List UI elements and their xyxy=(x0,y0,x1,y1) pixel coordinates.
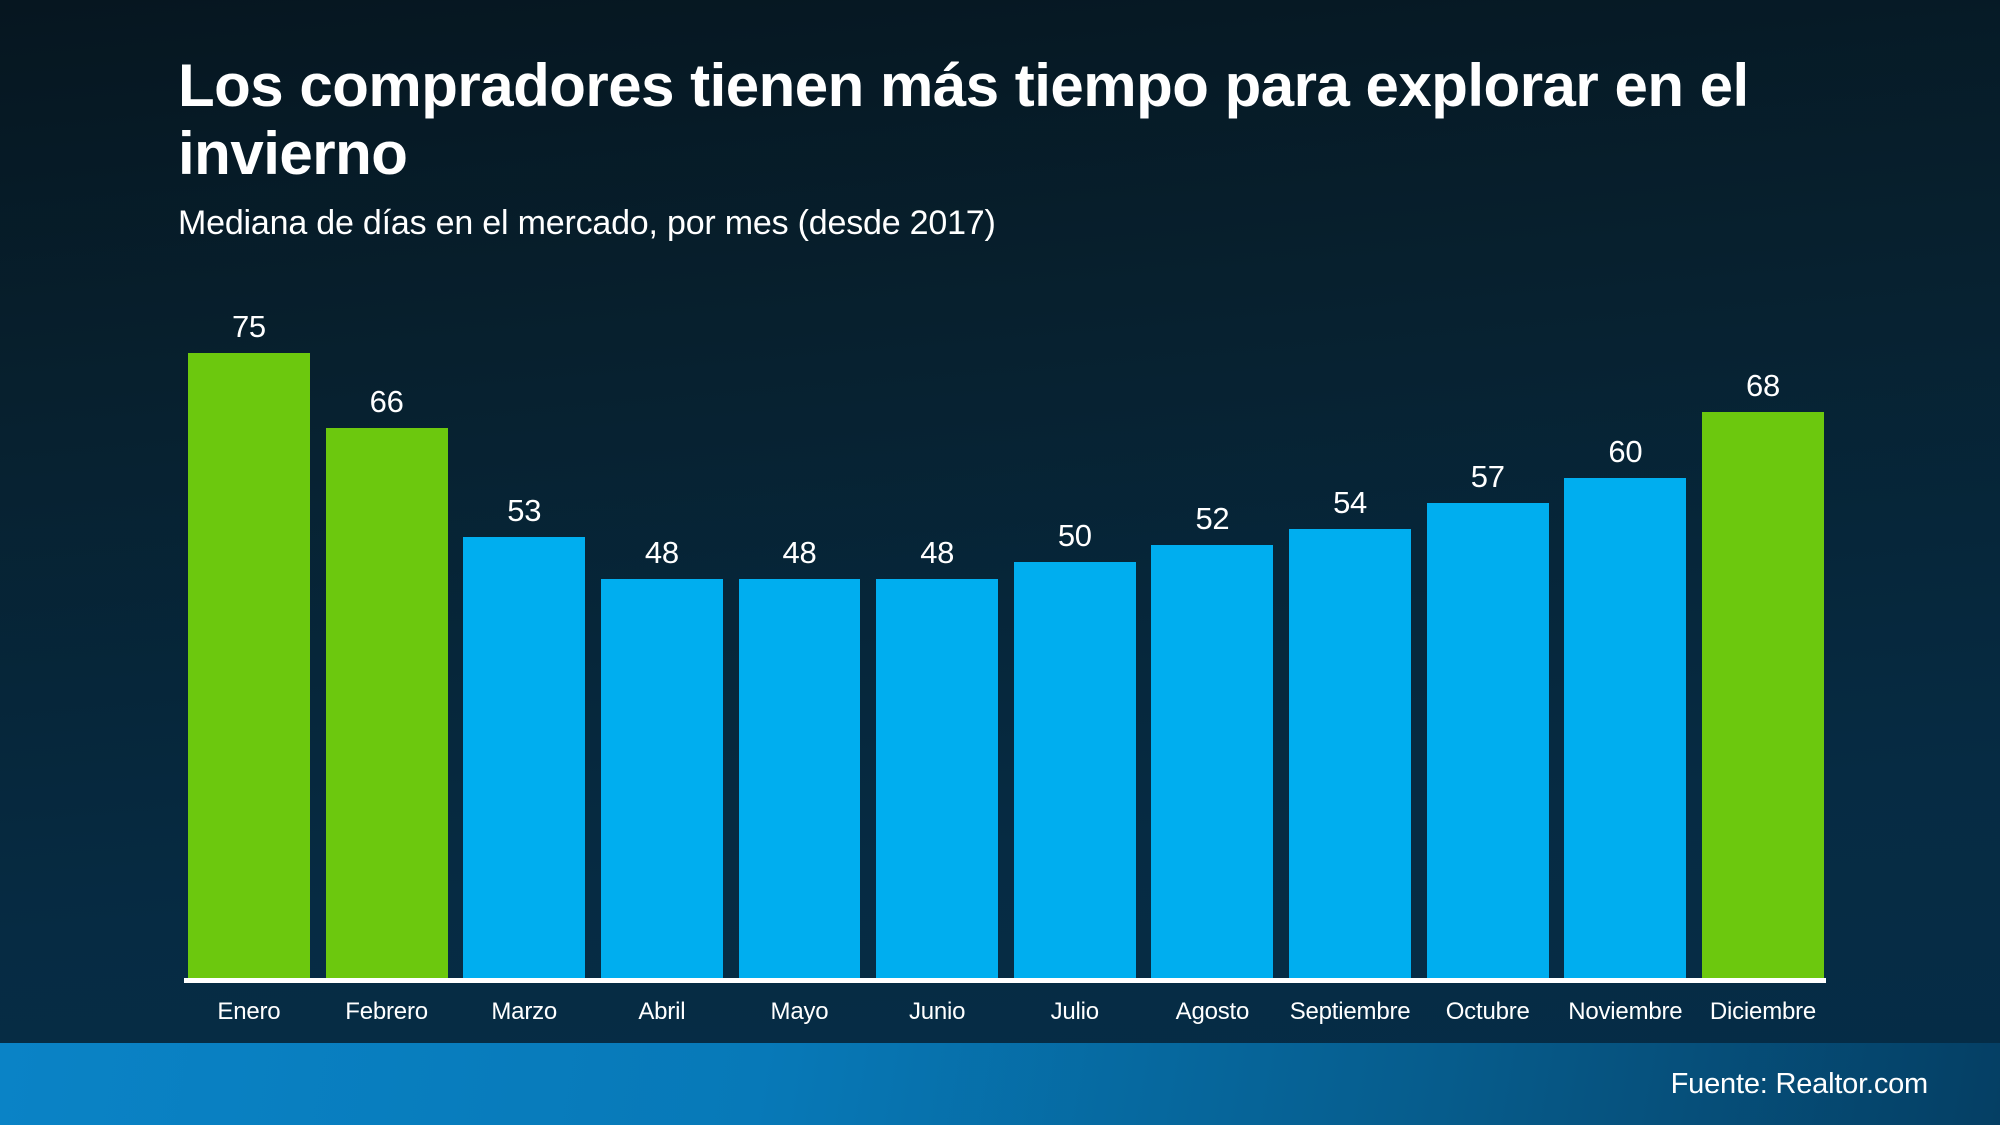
bar-value-label: 52 xyxy=(1151,503,1273,534)
bar-slot[interactable]: 75 xyxy=(188,300,310,980)
bar-value-label: 53 xyxy=(463,495,585,526)
bar-rect[interactable] xyxy=(1014,562,1136,980)
bar-value-label: 60 xyxy=(1564,436,1686,467)
bar-rect[interactable] xyxy=(188,353,310,980)
bar-rect[interactable] xyxy=(1427,503,1549,980)
bar-rect[interactable] xyxy=(1564,478,1686,980)
bar-slot[interactable]: 48 xyxy=(601,300,723,980)
axis-label-abril: Abril xyxy=(601,998,723,1027)
bar-slot[interactable]: 53 xyxy=(463,300,585,980)
bar-rect[interactable] xyxy=(1702,412,1824,980)
bar-value-label: 48 xyxy=(876,537,998,568)
bar-slot[interactable]: 48 xyxy=(739,300,861,980)
axis-label-septiembre: Septiembre xyxy=(1289,998,1411,1027)
page-title: Los compradores tienen más tiempo para e… xyxy=(178,52,1818,189)
axis-label-diciembre: Diciembre xyxy=(1702,998,1824,1027)
bar-value-label: 57 xyxy=(1427,461,1549,492)
chart-plot-area: 756653484848505254576068 xyxy=(188,300,1824,980)
bar-slot[interactable]: 52 xyxy=(1151,300,1273,980)
axis-label-marzo: Marzo xyxy=(463,998,585,1027)
axis-label-agosto: Agosto xyxy=(1151,998,1273,1027)
chart-header: Los compradores tienen más tiempo para e… xyxy=(178,52,1838,244)
x-axis-line xyxy=(184,978,1826,983)
bar-series: 756653484848505254576068 xyxy=(188,300,1824,980)
bar-rect[interactable] xyxy=(601,579,723,980)
bar-slot[interactable]: 48 xyxy=(876,300,998,980)
bar-rect[interactable] xyxy=(1151,545,1273,980)
axis-label-junio: Junio xyxy=(876,998,998,1027)
axis-label-mayo: Mayo xyxy=(739,998,861,1027)
bar-rect[interactable] xyxy=(463,537,585,980)
chart-subtitle: Mediana de días en el mercado, por mes (… xyxy=(178,203,1838,244)
bar-slot[interactable]: 57 xyxy=(1427,300,1549,980)
bar-rect[interactable] xyxy=(1289,529,1411,980)
bar-value-label: 48 xyxy=(739,537,861,568)
bar-value-label: 50 xyxy=(1014,520,1136,551)
bar-rect[interactable] xyxy=(876,579,998,980)
axis-label-julio: Julio xyxy=(1014,998,1136,1027)
bar-slot[interactable]: 68 xyxy=(1702,300,1824,980)
bar-rect[interactable] xyxy=(739,579,861,980)
bar-value-label: 68 xyxy=(1702,370,1824,401)
axis-label-octubre: Octubre xyxy=(1427,998,1549,1027)
bar-slot[interactable]: 66 xyxy=(326,300,448,980)
bar-value-label: 48 xyxy=(601,537,723,568)
bar-value-label: 54 xyxy=(1289,487,1411,518)
axis-label-enero: Enero xyxy=(188,998,310,1027)
axis-label-febrero: Febrero xyxy=(326,998,448,1027)
bar-rect[interactable] xyxy=(326,428,448,980)
bar-slot[interactable]: 60 xyxy=(1564,300,1686,980)
bar-value-label: 75 xyxy=(188,311,310,342)
bar-slot[interactable]: 54 xyxy=(1289,300,1411,980)
footer-bar: Fuente: Realtor.com xyxy=(0,1043,2000,1125)
bar-value-label: 66 xyxy=(326,386,448,417)
axis-label-noviembre: Noviembre xyxy=(1564,998,1686,1027)
source-attribution: Fuente: Realtor.com xyxy=(1671,1068,2000,1101)
bar-slot[interactable]: 50 xyxy=(1014,300,1136,980)
slide-canvas: Los compradores tienen más tiempo para e… xyxy=(0,0,2000,1125)
x-axis-tick-labels: EneroFebreroMarzoAbrilMayoJunioJulioAgos… xyxy=(188,998,1824,1027)
